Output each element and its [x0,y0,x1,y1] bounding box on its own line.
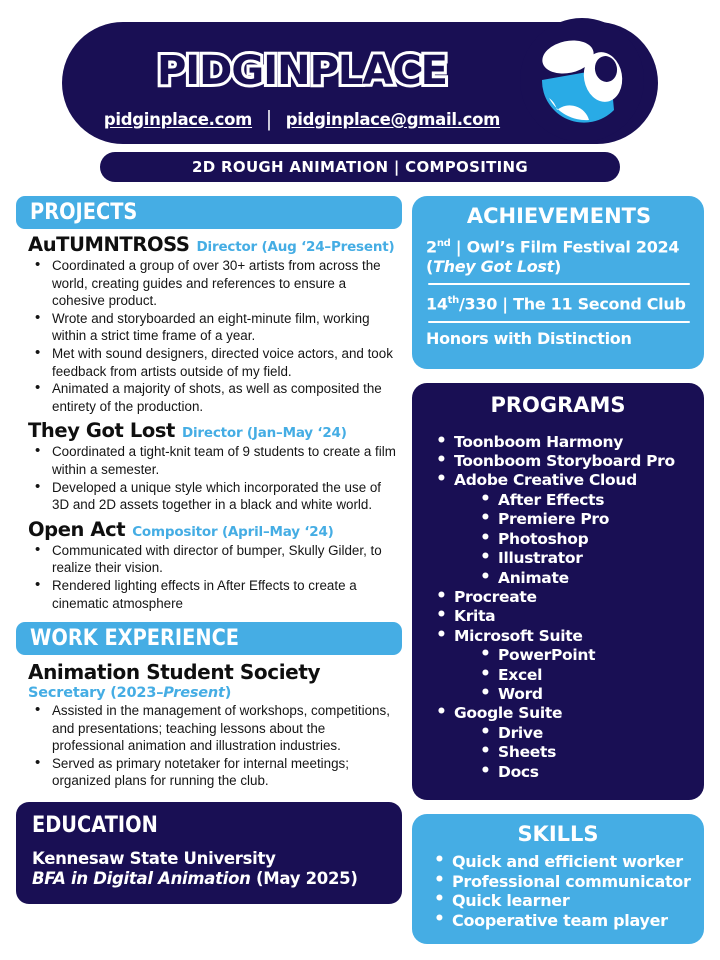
program-item: Toonboom Storyboard Pro [432,452,694,471]
work-role-emphasis: Present [163,685,225,701]
project-bullet: Coordinated a tight-knit team of 9 stude… [30,443,400,478]
achievement-item: 14th/330 | The 11 Second Club [426,285,692,320]
education-card: EDUCATION Kennesaw State University BFA … [16,802,402,904]
achievement-rank: 14 [426,295,448,314]
work-organization: Animation Student Society [16,660,402,684]
program-subitem: Word [476,685,694,704]
project-bullet-list: Coordinated a group of over 30+ artists … [16,257,402,415]
email-link[interactable]: pidginplace@gmail.com [286,110,500,129]
project-role: Director (Jan–May ‘24) [182,425,347,441]
work-role-prefix: Secretary (2023– [28,685,163,701]
program-subitem: After Effects [476,491,694,510]
project-role: Director (Aug ‘24–Present) [197,239,395,255]
program-item: Adobe Creative Cloud [432,471,694,490]
website-link[interactable]: pidginplace.com [104,110,252,129]
program-subitem: Illustrator [476,549,694,568]
programs-heading: PROGRAMS [422,393,694,417]
program-item: Krita [432,607,694,626]
contact-separator: | [266,106,272,132]
achievement-text: Honors with Distinction [426,329,632,348]
program-item: Procreate [432,588,694,607]
project-role: Compositor (April–May ‘24) [132,524,333,540]
program-subitem: Docs [476,763,694,782]
project-title: Open Act [28,518,125,541]
subtitle-banner: 2D ROUGH ANIMATION | COMPOSITING [100,152,620,182]
achievements-list: 2nd | Owl’s Film Festival 2024 (They Got… [426,228,692,355]
section-header-work-experience: WORK EXPERIENCE [16,622,402,655]
project-bullet: Wrote and storyboarded an eight-minute f… [30,310,400,345]
projects-heading: PROJECTS [30,200,137,225]
achievement-rank: 2 [426,237,437,256]
achievement-item: 2nd | Owl’s Film Festival 2024 (They Got… [426,228,692,283]
programs-card: PROGRAMS Toonboom HarmonyToonboom Storyb… [412,383,704,800]
project-bullet-list: Coordinated a tight-knit team of 9 stude… [16,443,402,513]
right-column: ACHIEVEMENTS 2nd | Owl’s Film Festival 2… [412,196,704,944]
subtitle-text: 2D ROUGH ANIMATION | COMPOSITING [192,158,528,176]
program-subitem: Animate [476,569,694,588]
project-title: They Got Lost [28,419,175,442]
achievements-card: ACHIEVEMENTS 2nd | Owl’s Film Festival 2… [412,196,704,369]
work-bullet: Assisted in the management of workshops,… [30,702,400,755]
education-school: Kennesaw State University [32,849,402,868]
skill-item: Professional communicator [430,872,694,892]
skills-card: SKILLS Quick and efficient workerProfess… [412,814,704,944]
work-role-suffix: ) [225,685,231,701]
programs-list: Toonboom HarmonyToonboom Storyboard ProA… [422,433,694,782]
program-subitem: Photoshop [476,530,694,549]
project-entry-head: They Got LostDirector (Jan–May ‘24) [16,419,402,442]
project-bullet: Coordinated a group of over 30+ artists … [30,257,400,310]
project-bullet: Developed a unique style which incorpora… [30,479,400,514]
work-bullet-list: Assisted in the management of workshops,… [16,702,402,790]
project-bullet-list: Communicated with director of bumper, Sk… [16,542,402,612]
achievement-text-after: ) [554,257,561,276]
resume-page: pidginplace pidginplace.com | pidginplac… [0,0,720,960]
project-bullet: Communicated with director of bumper, Sk… [30,542,400,577]
project-bullet: Animated a majority of shots, as well as… [30,380,400,415]
work-bullet: Served as primary notetaker for internal… [30,755,400,790]
project-entry-head: Open ActCompositor (April–May ‘24) [16,518,402,541]
education-degree: BFA in Digital Animation (May 2025) [32,869,402,888]
project-entry-head: AuTUMNTROSSDirector (Aug ‘24–Present) [16,233,402,256]
project-entry: Open ActCompositor (April–May ‘24)Commun… [16,518,402,612]
program-item: Microsoft Suite [432,627,694,646]
pigeon-mascot-icon [502,14,652,152]
program-subitem: Excel [476,666,694,685]
skill-item: Cooperative team player [430,911,694,931]
project-entry: AuTUMNTROSSDirector (Aug ‘24–Present)Coo… [16,233,402,415]
skills-list: Quick and efficient workerProfessional c… [422,852,694,930]
projects-entry-list: AuTUMNTROSSDirector (Aug ‘24–Present)Coo… [16,233,402,612]
education-degree-date: (May 2025) [251,869,358,888]
work-role: Secretary (2023–Present) [16,685,402,701]
program-subitem: PowerPoint [476,646,694,665]
project-entry: They Got LostDirector (Jan–May ‘24)Coord… [16,419,402,513]
header-banner: pidginplace pidginplace.com | pidginplac… [62,22,658,144]
skill-item: Quick learner [430,891,694,911]
achievement-item: Honors with Distinction [426,323,692,355]
achievement-rank-suffix: nd [437,238,451,249]
skills-heading: SKILLS [422,822,694,846]
program-sublist: DriveSheetsDocs [432,724,694,782]
program-item: Toonboom Harmony [432,433,694,452]
program-item: Google Suite [432,704,694,723]
contact-row: pidginplace.com | pidginplace@gmail.com [96,106,508,132]
section-header-projects: PROJECTS [16,196,402,229]
program-subitem: Sheets [476,743,694,762]
program-sublist: After EffectsPremiere ProPhotoshopIllust… [432,491,694,588]
education-heading: EDUCATION [32,813,158,838]
achievement-emphasis: They Got Lost [433,257,554,276]
project-title: AuTUMNTROSS [28,233,190,256]
achievement-rank-suffix: th [448,295,459,306]
achievements-heading: ACHIEVEMENTS [426,204,692,228]
project-bullet: Rendered lighting effects in After Effec… [30,577,400,612]
project-bullet: Met with sound designers, directed voice… [30,345,400,380]
education-degree-emphasis: BFA in Digital Animation [32,869,251,888]
achievement-text: /330 | The 11 Second Club [459,295,686,314]
left-column: PROJECTS AuTUMNTROSSDirector (Aug ‘24–Pr… [16,196,402,904]
work-experience-heading: WORK EXPERIENCE [30,626,239,651]
program-subitem: Premiere Pro [476,510,694,529]
brand-wordmark: pidginplace [102,28,502,102]
program-sublist: PowerPointExcelWord [432,646,694,704]
program-subitem: Drive [476,724,694,743]
skill-item: Quick and efficient worker [430,852,694,872]
